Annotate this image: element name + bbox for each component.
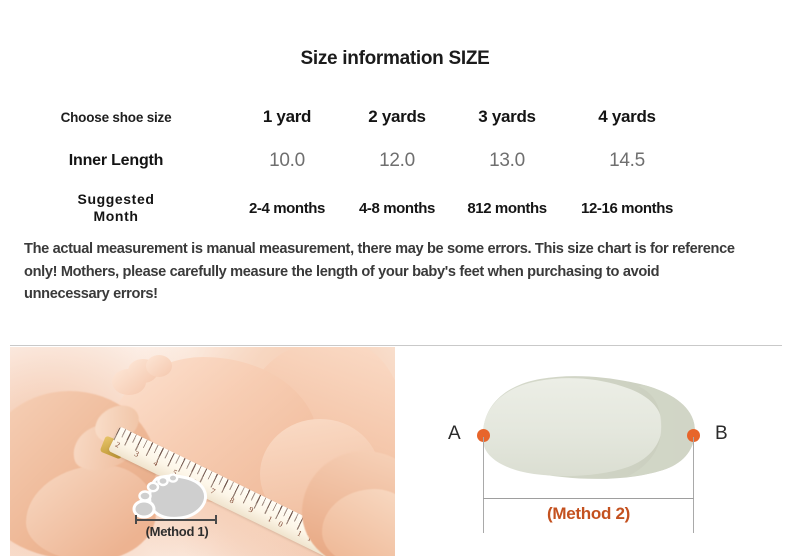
page-title: Size information SIZE bbox=[0, 48, 790, 70]
cell-inner-length-3: 13.0 bbox=[452, 138, 562, 184]
section-divider bbox=[10, 345, 782, 346]
bracket-bar bbox=[135, 519, 217, 521]
cell-spacer-head bbox=[692, 96, 790, 138]
insole-diagram: A B (Method 2) bbox=[398, 347, 782, 556]
method2-diagram-panel: A B (Method 2) bbox=[398, 347, 782, 556]
cell-suggested-month-1: 2-4 months bbox=[232, 184, 342, 232]
method1-measure-bracket bbox=[135, 515, 217, 524]
suggested-month-line2: Month bbox=[94, 208, 139, 224]
row-label-choose-shoe-size: Choose shoe size bbox=[0, 96, 232, 138]
cell-shoe-size-4: 4 yards bbox=[562, 96, 692, 138]
cell-suggested-month-4: 12-16 months bbox=[562, 184, 692, 232]
bracket-cap-right bbox=[215, 515, 217, 524]
cell-suggested-month-3: 812 months bbox=[452, 184, 562, 232]
cell-inner-length-1: 10.0 bbox=[232, 138, 342, 184]
size-chart-page: Size information SIZE Choose shoe size 1… bbox=[0, 0, 790, 556]
cell-suggested-month-2: 4-8 months bbox=[342, 184, 452, 232]
cell-inner-length-2: 12.0 bbox=[342, 138, 452, 184]
suggested-month-line1: Suggested bbox=[78, 191, 155, 207]
table-row-inner-length: Inner Length 10.0 12.0 13.0 14.5 bbox=[0, 138, 790, 184]
cell-spacer-mon bbox=[692, 184, 790, 232]
row-label-inner-length: Inner Length bbox=[0, 138, 232, 184]
insole-shape-icon bbox=[398, 347, 782, 556]
method2-label: (Method 2) bbox=[483, 504, 694, 524]
cell-inner-length-4: 14.5 bbox=[562, 138, 692, 184]
point-a-label: A bbox=[448, 423, 461, 445]
baby-toe bbox=[146, 355, 172, 377]
cell-shoe-size-2: 2 yards bbox=[342, 96, 452, 138]
disclaimer-text: The actual measurement is manual measure… bbox=[24, 238, 740, 306]
row-label-suggested-month: Suggested Month bbox=[0, 184, 232, 232]
point-b-label: B bbox=[715, 423, 728, 445]
measure-span-line bbox=[483, 498, 694, 499]
size-table: Choose shoe size 1 yard 2 yards 3 yards … bbox=[0, 96, 790, 232]
cell-shoe-size-3: 3 yards bbox=[452, 96, 562, 138]
cell-spacer-len bbox=[692, 138, 790, 184]
method1-label: (Method 1) bbox=[118, 524, 236, 539]
table-row-shoe-size: Choose shoe size 1 yard 2 yards 3 yards … bbox=[0, 96, 790, 138]
table-row-suggested-month: Suggested Month 2-4 months 4-8 months 81… bbox=[0, 184, 790, 232]
bracket-cap-left bbox=[135, 515, 137, 524]
cell-shoe-size-1: 1 yard bbox=[232, 96, 342, 138]
